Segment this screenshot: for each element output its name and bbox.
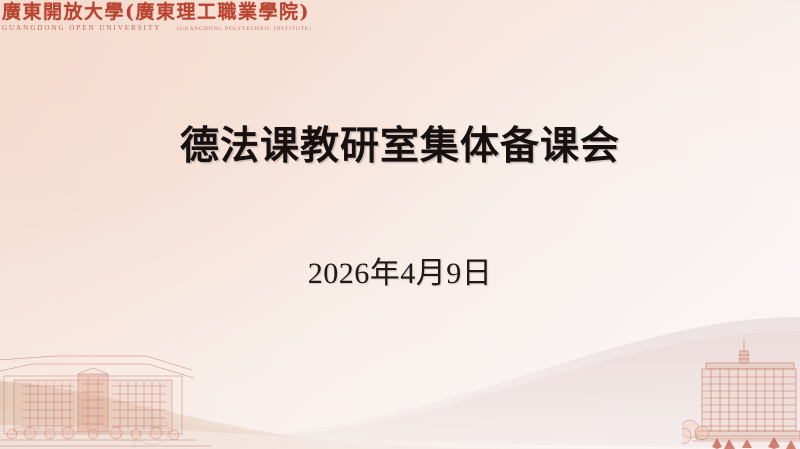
logo-english-name: GUANGDONG OPEN UNIVERSITY: [2, 24, 161, 32]
logo-english-subname: (GUANGDONG POLYTECHNIC INSTITUTE): [177, 26, 311, 32]
university-logo: 廣東開放大學(廣東理工職業學院) GUANGDONG OPEN UNIVERSI…: [0, 1, 272, 39]
slide-title: 德法课教研室集体备课会: [0, 115, 800, 171]
logo-english-block: GUANGDONG OPEN UNIVERSITY (GUANGDONG POL…: [0, 24, 272, 32]
campus-building-illustration: [0, 354, 226, 449]
slide-date: 2026年4月9日: [0, 248, 800, 292]
logo-chinese-name: 廣東開放大學(廣東理工職業學院): [0, 1, 272, 23]
presentation-slide: 廣東開放大學(廣東理工職業學院) GUANGDONG OPEN UNIVERSI…: [0, 0, 800, 449]
campus-tower-illustration: [682, 337, 800, 449]
background-side-tint: [0, 0, 800, 449]
